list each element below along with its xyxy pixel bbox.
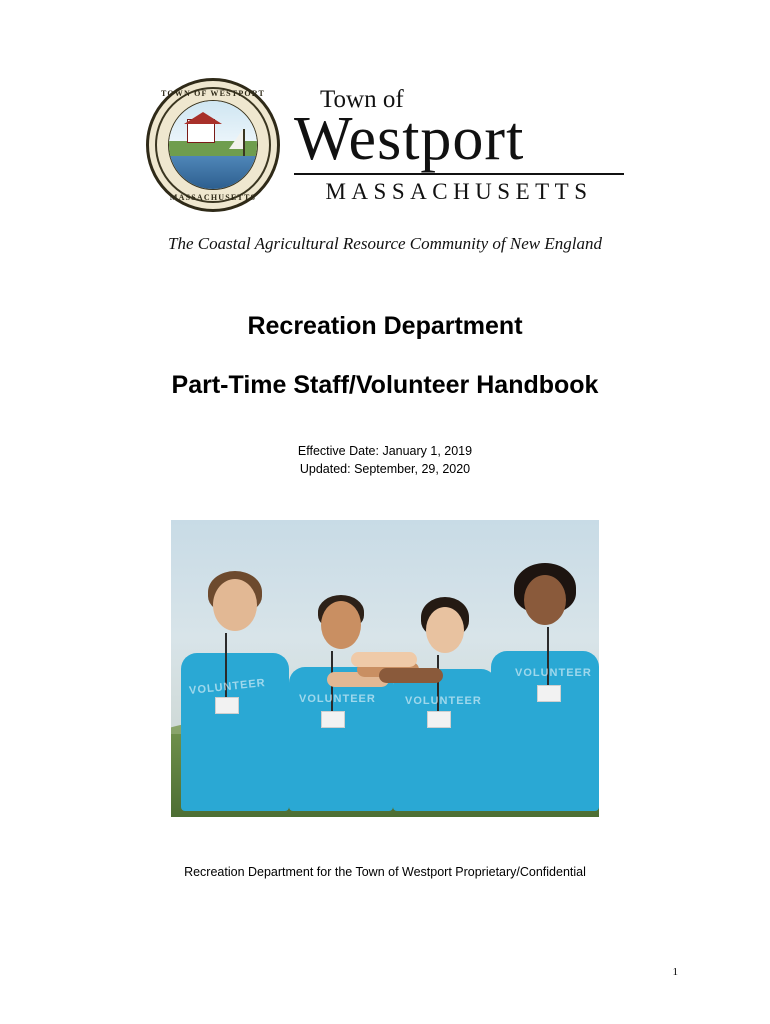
photo-shirt-text: VOLUNTEER xyxy=(299,693,376,705)
town-seal-icon: TOWN OF WESTPORT MASSACHUSETTS xyxy=(146,78,280,212)
photo-shirt xyxy=(181,653,289,811)
wordmark-massachusetts: MASSACHUSETTS xyxy=(294,179,624,205)
town-tagline: The Coastal Agricultural Resource Commun… xyxy=(0,234,770,254)
page-title: Recreation Department xyxy=(0,312,770,341)
date-block: Effective Date: January 1, 2019 Updated:… xyxy=(0,442,770,478)
photo-badge xyxy=(427,711,451,728)
seal-sail-icon xyxy=(229,129,243,149)
photo-shirt-text: VOLUNTEER xyxy=(405,695,482,707)
photo-head xyxy=(524,575,566,625)
photo-badge xyxy=(537,685,561,702)
photo-head xyxy=(426,607,464,653)
page-subtitle: Part-Time Staff/Volunteer Handbook xyxy=(0,371,770,400)
footer-note: Recreation Department for the Town of We… xyxy=(0,865,770,879)
seal-boat-mast xyxy=(243,129,245,155)
photo-person: VOLUNTEER xyxy=(491,561,599,811)
wordmark-westport: Westport xyxy=(294,108,624,171)
photo-head xyxy=(321,601,361,649)
seal-scene xyxy=(168,100,258,190)
seal-bottom-text: MASSACHUSETTS xyxy=(146,193,280,202)
photo-head xyxy=(213,579,257,631)
seal-top-text: TOWN OF WESTPORT xyxy=(146,89,280,98)
effective-date: Effective Date: January 1, 2019 xyxy=(0,442,770,460)
seal-water xyxy=(169,156,257,189)
photo-person: VOLUNTEER xyxy=(181,563,289,811)
photo-stacked-hands xyxy=(327,650,443,690)
masthead: TOWN OF WESTPORT MASSACHUSETTS Town of W… xyxy=(0,0,770,212)
document-page: TOWN OF WESTPORT MASSACHUSETTS Town of W… xyxy=(0,0,770,1024)
cover-photo: VOLUNTEER VOLUNTEER VOLUNTEER xyxy=(171,520,599,817)
wordmark-rule xyxy=(294,173,624,175)
photo-hand xyxy=(351,652,417,667)
photo-person: VOLUNTEER xyxy=(393,585,497,811)
seal-roof xyxy=(184,112,222,124)
document-title-block: Recreation Department Part-Time Staff/Vo… xyxy=(0,312,770,400)
photo-shirt xyxy=(393,669,497,811)
photo-badge xyxy=(321,711,345,728)
photo-hand xyxy=(379,668,443,683)
photo-person: VOLUNTEER xyxy=(289,581,393,811)
updated-date: Updated: September, 29, 2020 xyxy=(0,460,770,478)
photo-badge xyxy=(215,697,239,714)
photo-shirt-text: VOLUNTEER xyxy=(515,667,592,679)
wordmark: Town of Westport MASSACHUSETTS xyxy=(294,85,624,205)
page-number: 1 xyxy=(673,966,679,978)
